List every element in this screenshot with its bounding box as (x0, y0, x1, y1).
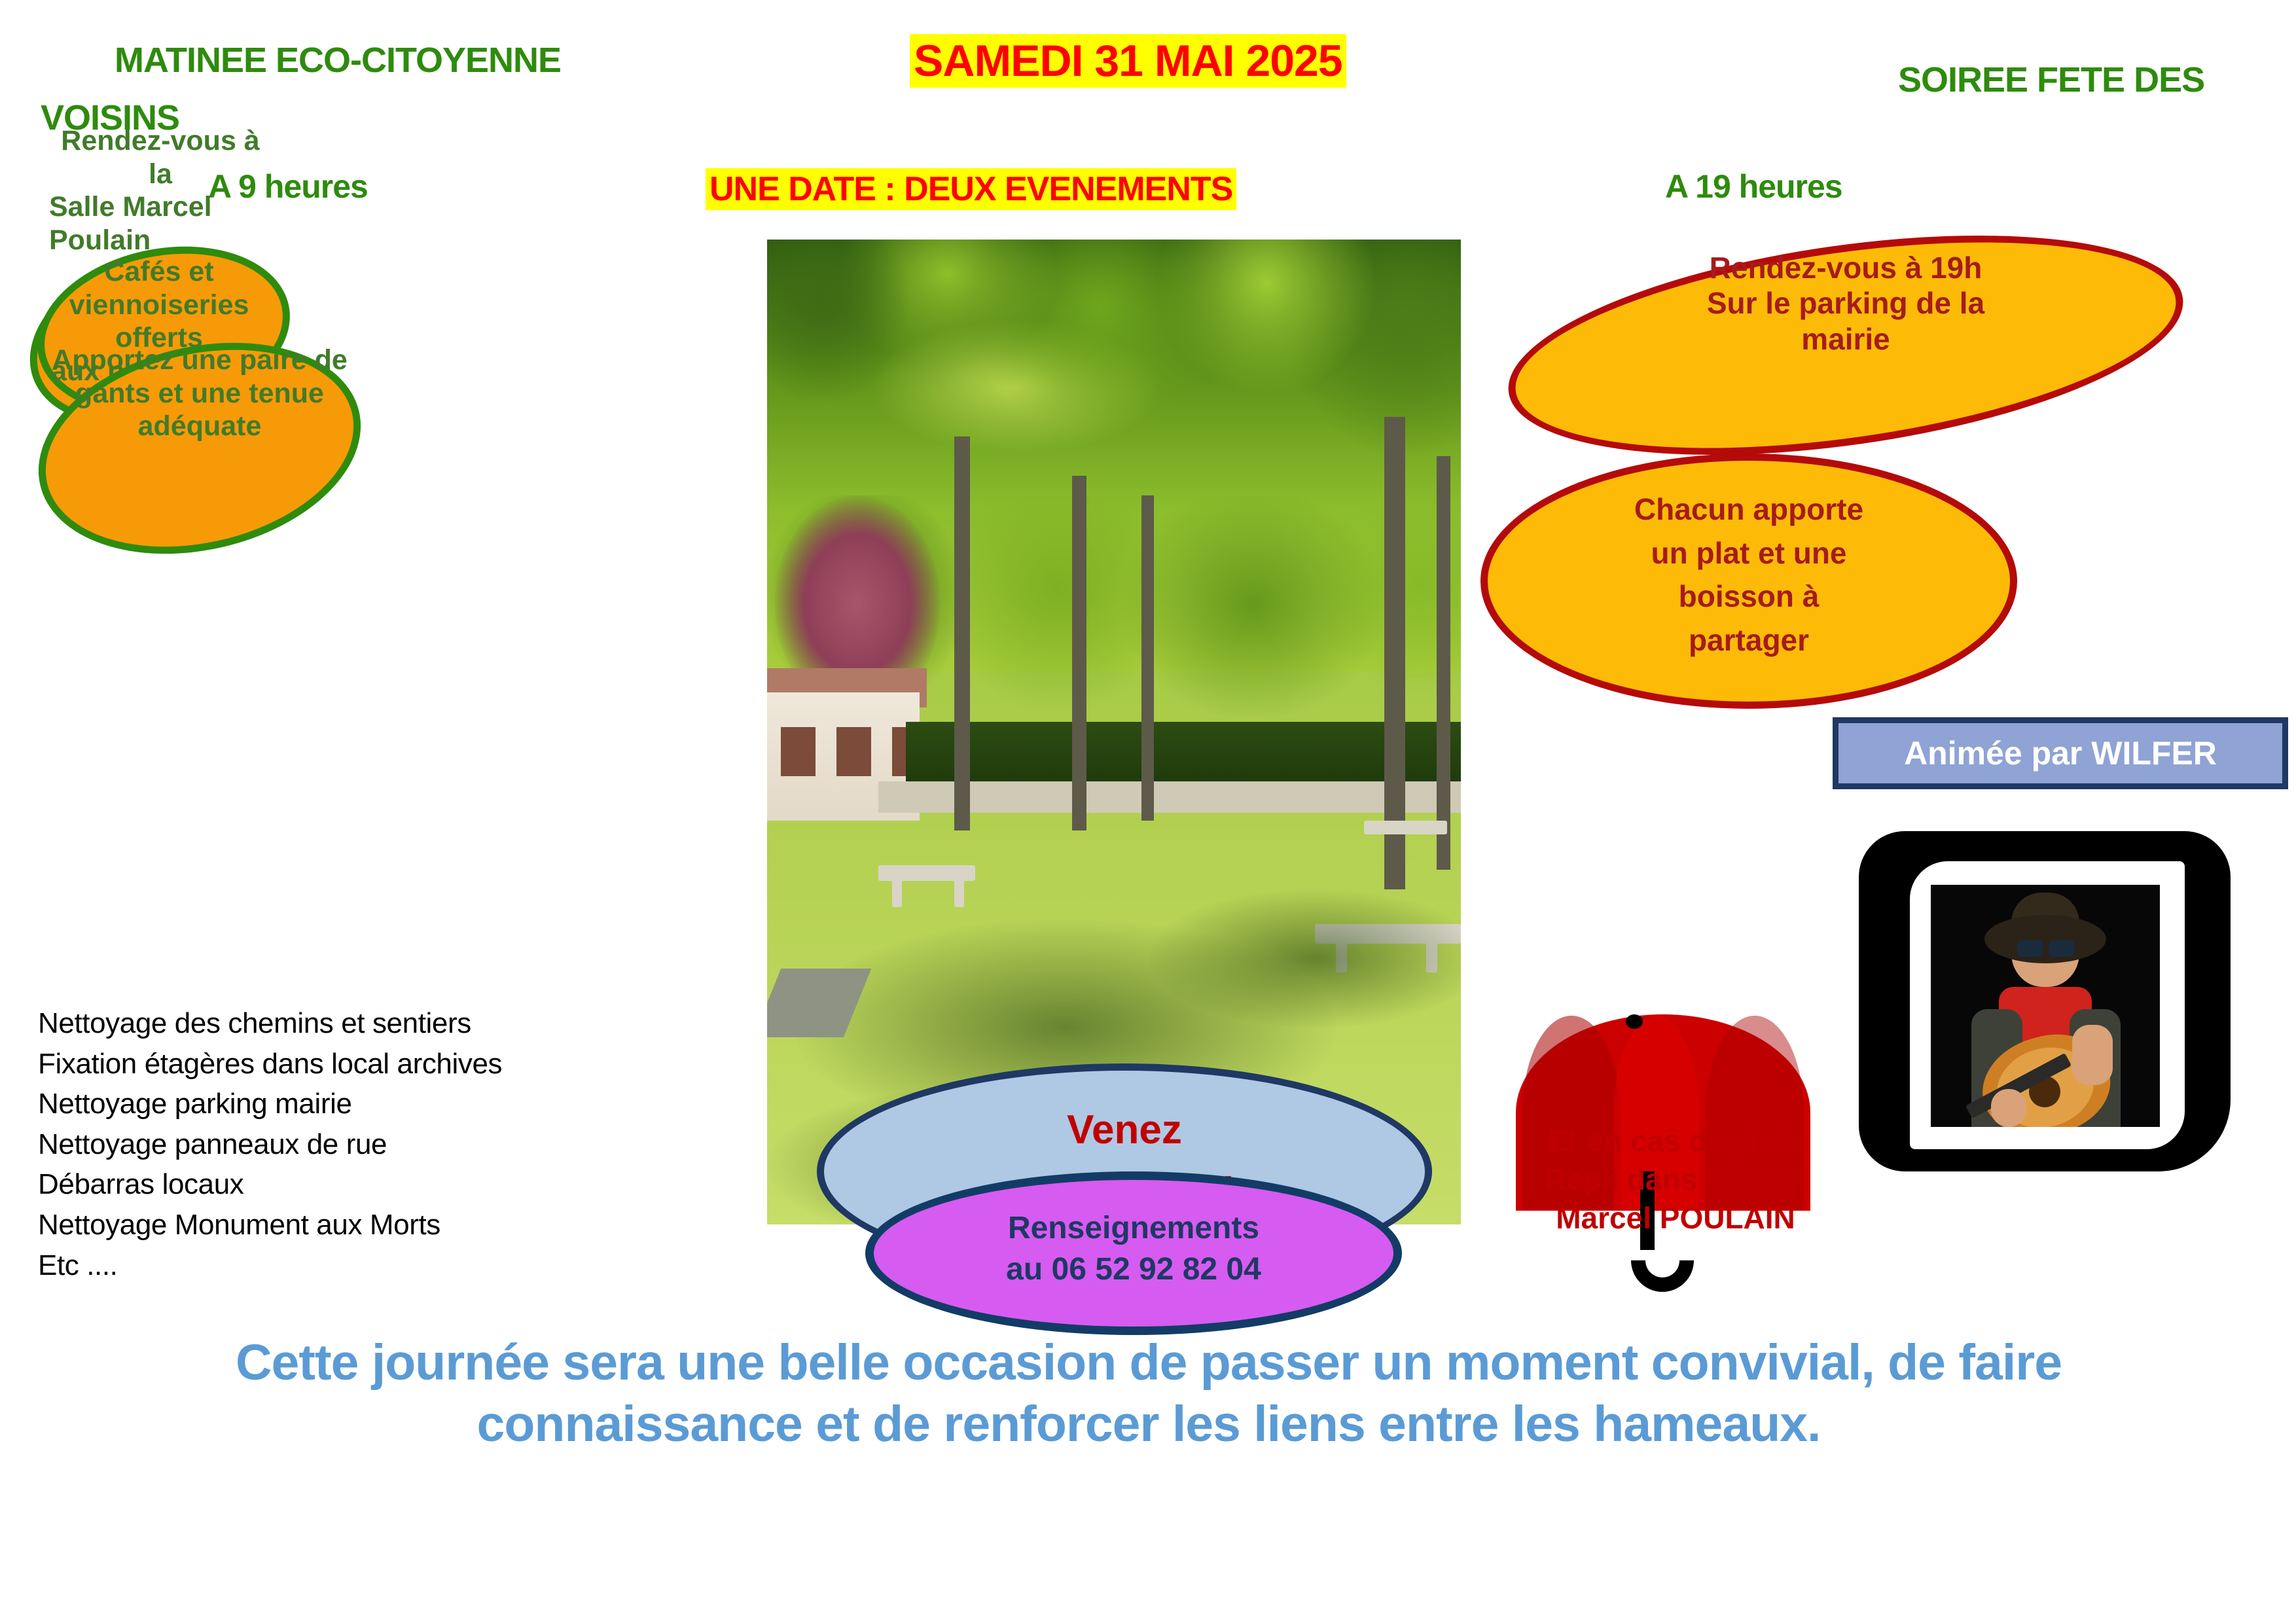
morning-heading-line1: MATINEE ECO-CITOYENNE (115, 41, 561, 80)
musician-right-arm (2072, 1025, 2113, 1085)
umbrella-hook (1618, 1216, 1707, 1305)
info-bubble-shape (865, 1171, 1402, 1335)
task-item: Fixation étagères dans local archives (38, 1044, 692, 1084)
morning-heading-line2-wrap: VOISINS (41, 98, 179, 137)
task-list: Nettoyage des chemins et sentiers Fixati… (38, 1003, 692, 1285)
info-bubble (865, 1171, 1402, 1335)
umbrella-icon (1516, 1000, 1810, 1275)
park-bench-1-leg2 (954, 878, 964, 907)
park-window-1 (781, 727, 816, 776)
task-item: Nettoyage Monument aux Morts (38, 1205, 692, 1245)
task-item: Nettoyage parking mairie (38, 1084, 692, 1124)
musician-photo (1931, 885, 2160, 1127)
task-item: Nettoyage des chemins et sentiers (38, 1003, 692, 1044)
morning-time: A 9 heures (208, 168, 368, 205)
evening-bubble-1-shape (1495, 199, 2197, 491)
wilfer-banner-label: Animée par WILFER (1904, 734, 2217, 772)
musician-sunglasses-right (2049, 940, 2075, 957)
musician-hat (1984, 915, 2106, 963)
morning-heading: MATINEE ECO-CITOYENNE (115, 41, 561, 80)
musician-photo-frame (1859, 831, 2231, 1171)
park-hedge (906, 722, 1461, 786)
main-date-wrap: SAMEDI 31 MAI 2025 (910, 34, 1346, 88)
subtitle: UNE DATE : DEUX EVENEMENTS (706, 168, 1236, 210)
park-bench-1-leg (892, 878, 902, 907)
park-bench-3-backrest (1364, 821, 1447, 834)
park-window-2 (836, 727, 871, 776)
evening-time: A 19 heures (1665, 168, 1842, 205)
park-trunk-5 (1437, 456, 1450, 870)
park-trunk-2 (1072, 476, 1086, 830)
park-trunk-1 (954, 437, 969, 830)
main-date: SAMEDI 31 MAI 2025 (910, 34, 1346, 88)
morning-time-label: A 9 heures (208, 168, 368, 205)
task-item: Débarras locaux (38, 1164, 692, 1205)
evening-heading: SOIREE FETE DES (1898, 60, 2204, 99)
umbrella-tip (1626, 1014, 1643, 1029)
park-trunk-3 (1141, 495, 1154, 821)
evening-bubble-2-shape (1480, 454, 2017, 709)
subtitle-wrap: UNE DATE : DEUX EVENEMENTS (706, 168, 1236, 210)
umbrella-panel-shade-1 (1522, 1016, 1621, 1209)
wilfer-banner: Animée par WILFER (1833, 717, 2288, 789)
task-item: Etc .... (38, 1245, 692, 1286)
morning-heading-line2: VOISINS (41, 98, 179, 137)
musician-left-hand (1991, 1089, 2026, 1127)
evening-heading-label: SOIREE FETE DES (1898, 60, 2204, 99)
musician-photo-mat (1910, 861, 2185, 1149)
musician-sunglasses-left (2017, 940, 2043, 957)
evening-time-label: A 19 heures (1665, 168, 1842, 205)
footer-line-1: Cette journée sera une belle occasion de… (39, 1332, 2258, 1394)
footer-sentence: Cette journée sera une belle occasion de… (39, 1332, 2258, 1455)
park-trunk-4 (1384, 417, 1405, 889)
evening-bubble-1 (1495, 199, 2197, 491)
evening-bubble-2 (1480, 454, 2017, 709)
task-item: Nettoyage panneaux de rue (38, 1124, 692, 1165)
umbrella-panel-shade-2 (1706, 1016, 1804, 1209)
umbrella-panel-highlight (1614, 1016, 1699, 1209)
footer-line-2: connaissance et de renforcer les liens e… (39, 1394, 2258, 1455)
